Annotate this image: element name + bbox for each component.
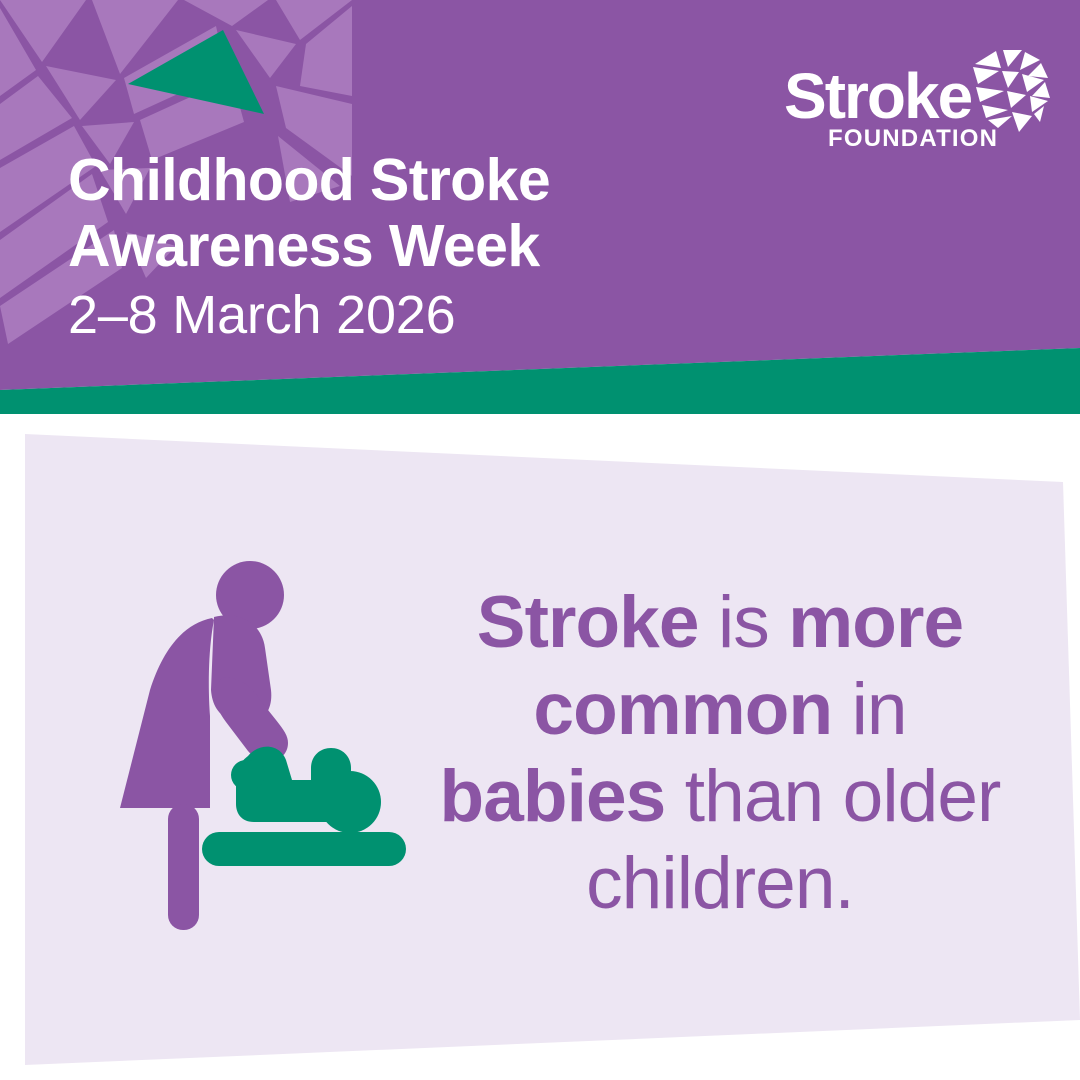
- message-emphasis: more: [788, 582, 963, 663]
- message-emphasis: Stroke: [477, 582, 699, 663]
- message-emphasis: babies: [440, 756, 666, 837]
- adult-figure: [120, 561, 288, 930]
- stroke-foundation-logo[interactable]: Stroke FOUNDATION: [782, 46, 1052, 152]
- page-title-line-2: Awareness Week: [68, 214, 828, 280]
- baby-figure: [202, 747, 406, 866]
- baby-changing-table-icon: [62, 540, 422, 940]
- header-banner: Childhood Stroke Awareness Week 2–8 Marc…: [0, 0, 1080, 420]
- card-message-text: Stroke is more common in babies than old…: [430, 580, 1010, 927]
- logo-wordmark: Stroke: [784, 60, 972, 132]
- message-plain: is: [699, 582, 789, 663]
- header-title-group: Childhood Stroke Awareness Week 2–8 Marc…: [68, 148, 828, 345]
- date-range: 2–8 March 2026: [68, 285, 828, 345]
- logo-subword: FOUNDATION: [828, 125, 998, 152]
- message-emphasis: common: [533, 669, 832, 750]
- poster-canvas: Childhood Stroke Awareness Week 2–8 Marc…: [0, 0, 1080, 1080]
- faceted-brain-icon: [973, 50, 1050, 132]
- page-title-line-1: Childhood Stroke: [68, 148, 828, 214]
- message-plain: in: [832, 669, 906, 750]
